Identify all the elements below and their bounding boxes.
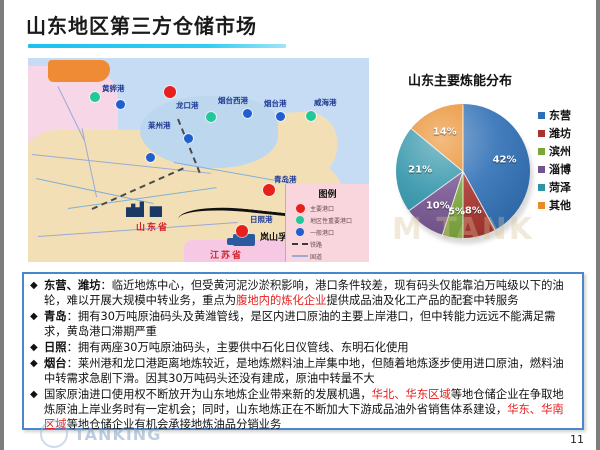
chart-legend-label: 滨州 [549,143,571,159]
chart-legend-label: 淄博 [549,161,571,177]
map-port-dot-unnamed-major[interactable] [164,86,176,98]
analysis-text-box: ◆东营、潍坊：临近地炼中心，但受黄河泥沙淤积影响，港口条件较差，现有码头仅能靠泊… [22,272,584,430]
map-port-label-longkou: 龙口港 [176,100,199,111]
analysis-bullet-item: ◆日照：拥有两座30万吨原油码头，主要供中石化日仪管线、东明石化使用 [30,340,574,355]
pie-slice-label-其他: 14% [433,127,457,138]
pie-slice-label-菏泽: 21% [408,164,432,175]
analysis-bullet-item: ◆东营、潍坊：临近地炼中心，但受黄河泥沙淤积影响，港口条件较差，现有码头仅能靠泊… [30,278,574,308]
legend-color-swatch-icon [538,184,545,191]
body-phrase: 国家原油进口使用权不断放开为山东地炼企业带来新的发展机遇， [44,388,372,401]
pie-slice-divider [463,105,464,172]
analysis-bullet-item: ◆青岛：拥有30万吨原油码头及黄潍管线，是区内进口原油的主要上岸港口，但中转能力… [30,309,574,339]
slide-canvas: 山东地区第三方仓储市场 山东省 江苏省 [0,0,600,450]
map-port-dot-yantai[interactable] [276,112,285,121]
legend-color-swatch-icon [538,130,545,137]
legend-color-swatch-icon [538,148,545,155]
chart-legend: 东营潍坊滨州淄博菏泽其他 [538,106,596,214]
page-title: 山东地区第三方仓储市场 [26,10,257,39]
normal-port-dot-icon [290,228,310,236]
map-port-label-huanghua: 黄骅港 [102,83,125,94]
analysis-bullet-lead: 青岛 [44,310,67,323]
map-legend-label: 主要港口 [310,204,334,213]
map-legend-title: 图例 [290,187,365,200]
analysis-bullet-item: ◆国家原油进口使用权不断放开为山东地炼企业带来新的发展机遇，华北、华东区域等地仓… [30,387,574,432]
map-legend-label: 铁路 [310,240,322,249]
diamond-bullet-icon: ◆ [30,340,44,355]
page-number: 11 [570,433,584,446]
chart-legend-row-菏泽[interactable]: 菏泽 [538,178,596,196]
analysis-bullet-text: 国家原油进口使用权不断放开为山东地炼企业带来新的发展机遇，华北、华东区域等地仓储… [44,387,574,432]
map-port-dot-longkou[interactable] [206,112,216,122]
map-legend-label: 一般港口 [310,228,334,237]
diamond-bullet-icon: ◆ [30,387,44,402]
legend-color-swatch-icon [538,202,545,209]
diamond-bullet-icon: ◆ [30,278,44,293]
analysis-bullet-lead: 东营、潍坊 [44,279,101,292]
map-legend-label: 国道 [310,252,322,261]
chart-legend-row-淄博[interactable]: 淄博 [538,160,596,178]
body-phrase: ：莱州港和龙口港距离地炼较近，是地炼燃料油上岸集中地，但随着地炼逐步使用进口原油… [44,357,564,385]
map-legend-row-major-port: 主要港口 [290,203,365,213]
analysis-bullet-text: 东营、潍坊：临近地炼中心，但受黄河泥沙淤积影响，港口条件较差，现有码头仅能靠泊万… [44,278,574,308]
analysis-bullet-text: 烟台：莱州港和龙口港距离地炼较近，是地炼燃料油上岸集中地，但随着地炼逐步使用进口… [44,356,574,386]
map-province-label-jiangsu: 江苏省 [210,248,243,261]
map-legend-row-railway: 铁路 [290,239,365,249]
analysis-bullet-lead: 烟台 [44,357,67,370]
shandong-port-map: 山东省 江苏省 黄骅港 龙口港 莱州港 烟台西港 烟台港 威海港 青岛港 日照港… [28,58,369,262]
map-legend-row-regional-port: 地区性重要港口 [290,215,365,225]
map-legend-row-highway: 国道 [290,251,365,261]
diamond-bullet-icon: ◆ [30,309,44,324]
chart-legend-label: 其他 [549,197,571,213]
analysis-bullet-text: 日照：拥有两座30万吨原油码头，主要供中石化日仪管线、东明石化使用 [44,340,574,355]
legend-color-swatch-icon [538,112,545,119]
diamond-bullet-icon: ◆ [30,356,44,371]
title-underline-rule [28,44,286,48]
map-port-dot-weihai[interactable] [306,111,316,121]
chart-legend-label: 潍坊 [549,125,571,141]
map-port-dot-huanghua[interactable] [90,92,100,102]
map-port-dot-extra[interactable] [146,153,155,162]
map-port-dot-yantaixi[interactable] [243,109,252,118]
chart-legend-row-东营[interactable]: 东营 [538,106,596,124]
highlighted-phrase: 华北、华东区域 [372,388,451,401]
analysis-bullet-text: 青岛：拥有30万吨原油码头及黄潍管线，是区内进口原油的主要上岸港口，但中转能力远… [44,309,574,339]
analysis-bullet-item: ◆烟台：莱州港和龙口港距离地炼较近，是地炼燃料油上岸集中地，但随着地炼逐步使用进… [30,356,574,386]
map-port-label-yantai: 烟台港 [264,98,287,109]
legend-color-swatch-icon [538,166,545,173]
body-phrase: ：拥有两座30万吨原油码头，主要供中石化日仪管线、东明石化使用 [67,341,409,354]
highway-solid-line-icon [290,255,310,257]
map-legend-label: 地区性重要港口 [310,216,352,225]
regional-port-dot-icon [290,216,310,224]
map-port-dot-laizhou[interactable] [184,134,193,143]
major-port-dot-icon [290,204,310,213]
railway-dashed-line-icon [290,243,310,245]
map-port-label-weihai: 威海港 [314,97,337,108]
body-phrase: 等地仓储企业有机会承接地炼油品分销业务 [67,418,282,431]
map-province-label-shandong: 山东省 [136,220,169,233]
body-phrase: ：拥有30万吨原油码头及黄潍管线，是区内进口原油的主要上岸港口，但中转能力远远不… [44,310,555,338]
pie-slice-label-东营: 42% [493,155,517,166]
chart-legend-label: 东营 [549,107,571,123]
map-port-dot-qingdao[interactable] [263,184,275,196]
map-port-label-yantaixi: 烟台西港 [218,95,248,106]
body-phrase: 提供成品油及化工产品的配套中转服务 [326,294,518,307]
map-orange-region-shape [48,60,110,82]
highlighted-phrase: 腹地内的炼化企业 [236,294,326,307]
map-port-label-rizhao: 日照港 [250,214,273,225]
map-port-label-laizhou: 莱州港 [148,120,171,131]
map-legend: 图例 主要港口 地区性重要港口 一般港口 铁路 国道 [285,184,369,262]
chart-legend-row-潍坊[interactable]: 潍坊 [538,124,596,142]
chart-legend-row-其他[interactable]: 其他 [538,196,596,214]
map-bohai-bay-shape [140,96,278,168]
refining-capacity-pie-chart: 山东主要炼能分布 42%8%5%10%21%14% 东营潍坊滨州淄博菏泽其他 [380,62,596,262]
analysis-bullet-lead: 日照 [44,341,67,354]
chart-legend-row-滨州[interactable]: 滨州 [538,142,596,160]
chart-title: 山东主要炼能分布 [380,70,540,89]
pie-slice-label-潍坊: 8% [465,206,482,217]
pie-slice-divider [463,172,464,239]
pie-wrapper: 42%8%5%10%21%14% [396,104,530,238]
pie-slice-label-淄博: 10% [426,200,450,211]
chart-legend-label: 菏泽 [549,179,571,195]
map-port-dot-extra[interactable] [116,100,125,109]
map-port-dot-rizhao[interactable] [236,225,248,237]
map-legend-row-normal-port: 一般港口 [290,227,365,237]
